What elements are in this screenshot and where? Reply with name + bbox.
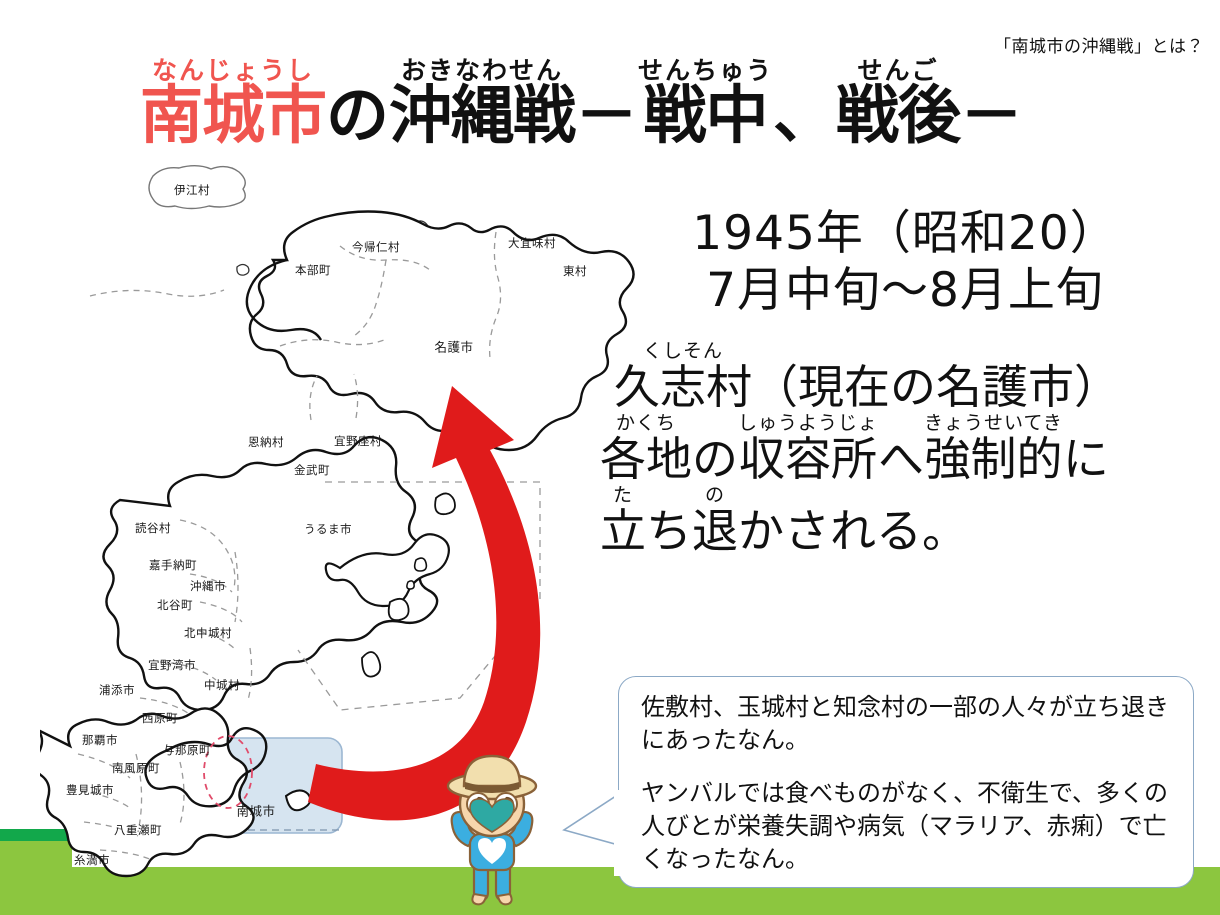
title-base-okinawasen: 沖縄戦 [389,84,575,147]
title-ruby-unit-senchu: せんちゅう 戦中 [638,58,773,147]
title-base-senchu: 戦中 [644,84,768,147]
map-label-那覇市: 那覇市 [82,732,118,748]
map-label-伊江村: 伊江村 [174,182,210,198]
date-line-1: 1945年（昭和20） [600,205,1210,262]
base-no: 退 [692,508,738,554]
map-label-名護市: 名護市 [434,337,473,356]
map-label-豊見城市: 豊見城市 [66,782,114,798]
base-kushison: 久志村 [614,364,752,410]
title-dash-open: － [575,84,638,147]
island-small1 [415,558,427,571]
mascot-svg [432,742,552,912]
base-kakuchi: 各地 [600,436,692,482]
island-ikei [435,493,455,514]
bubble-paragraph-1: 佐敷村、玉城村と知念村の一部の人々が立ち退きにあったなん。 [641,691,1173,757]
speech-bubble: 佐敷村、玉城村と知念村の一部の人々が立ち退きにあったなん。 ヤンバルでは食べもの… [618,676,1194,888]
body-line-2-mid-b: へ [878,436,924,482]
mascot-character [432,742,552,912]
body-line-2-mid-a: の [692,436,738,482]
body-line-2-tail: に [1063,436,1109,482]
base-shuyojo: 収容所 [739,436,877,482]
title-particle-no: の [326,84,389,147]
right-text-column: 1945年（昭和20） 7月中旬～8月上旬 くしそん 久志村 （現在の名護市） … [600,205,1210,558]
map-label-大宜味村: 大宜味村 [508,235,556,251]
map-label-金武町: 金武町 [294,462,330,478]
date-line-2: 7月中旬～8月上旬 [600,262,1210,319]
body-line-1-tail: （現在の名護市） [752,364,1120,410]
speech-bubble-tail [556,790,622,876]
title-ruby-unit-nanjoshi: なんじょうし 南城市 [140,58,326,147]
map-label-東村: 東村 [563,263,587,279]
title-base-nanjoshi: 南城市 [140,84,326,147]
body-line-3: た 立 ち の 退 かされる。 [600,486,1210,554]
base-kyoseiteki: 強制的 [924,436,1062,482]
ruby-unit-ta: た 立 [600,486,646,554]
mascot-hat-crown [464,756,520,786]
map-label-嘉手納町: 嘉手納町 [149,557,197,573]
map-label-読谷村: 読谷村 [135,520,171,536]
island-tsuken [389,599,409,620]
ruby-unit-kakuchi: かくち 各地 [600,414,692,482]
map-label-浦添市: 浦添市 [99,682,135,698]
map-label-八重瀬町: 八重瀬町 [114,822,162,838]
map-label-糸満市: 糸満市 [74,852,110,868]
map-label-南風原町: 南風原町 [112,760,160,776]
ruby-unit-shuyojo: しゅうようじょ 収容所 [738,414,878,482]
map-label-沖縄市: 沖縄市 [190,578,226,594]
okinawa-map: 伊江村今帰仁村本部町大宜味村東村名護市恩納村宜野座村金武町読谷村嘉手納町沖縄市北… [40,150,680,880]
chinen-tip [286,790,310,810]
map-label-西原町: 西原町 [142,710,178,726]
map-label-中城村: 中城村 [204,677,240,693]
body-line-2: かくち 各地 の しゅうようじょ 収容所 へ きょうせいてき 強制的 に [600,414,1210,482]
island-kudaka [362,652,380,677]
map-label-本部町: 本部町 [295,262,331,278]
body-line-3-mid: ち [646,508,692,554]
slide-canvas: 伊江村今帰仁村本部町大宜味村東村名護市恩納村宜野座村金武町読谷村嘉手納町沖縄市北… [0,0,1220,915]
ruby-unit-kyoseiteki: きょうせいてき 強制的 [924,414,1063,482]
map-label-南城市: 南城市 [236,801,275,820]
ruby-unit-no: の 退 [692,486,738,554]
mascot-feet [472,894,511,904]
map-label-宜野座村: 宜野座村 [334,433,382,449]
bubble-paragraph-gap [641,757,1173,777]
body-line-1: くしそん 久志村 （現在の名護市） [600,342,1210,410]
map-label-与那原町: 与那原町 [163,742,211,758]
title-base-sengo: 戦後 [836,84,960,147]
base-ta: 立 [600,508,646,554]
page-title: なんじょうし 南城市 の おきなわせん 沖縄戦 － せんちゅう 戦中 、 せんご… [140,58,1023,147]
body-line-3-tail: かされる。 [738,508,968,554]
map-label-恩納村: 恩納村 [248,434,284,450]
map-label-今帰仁村: 今帰仁村 [352,239,400,255]
title-ruby-unit-sengo: せんご 戦後 [836,58,960,147]
ruby-unit-kushison: くしそん 久志村 [614,342,752,410]
title-dash-close: － [960,84,1023,147]
island-small2 [407,581,414,589]
title-ruby-unit-okinawasen: おきなわせん 沖縄戦 [389,58,575,147]
map-label-北中城村: 北中城村 [184,625,232,641]
map-label-宜野湾市: 宜野湾市 [148,657,196,673]
body-text-block: くしそん 久志村 （現在の名護市） かくち 各地 の しゅうようじょ 収容所 へ… [600,342,1210,554]
islet-minna [237,265,249,276]
map-label-うるま市: うるま市 [304,521,352,537]
title-comma: 、 [773,84,836,147]
corner-topic-label: 「南城市の沖縄戦」とは？ [994,32,1204,57]
bubble-paragraph-2: ヤンバルでは食べものがなく、不衛生で、多くの人びとが栄養失調や病気（マラリア、赤… [641,777,1173,876]
map-label-北谷町: 北谷町 [157,597,193,613]
